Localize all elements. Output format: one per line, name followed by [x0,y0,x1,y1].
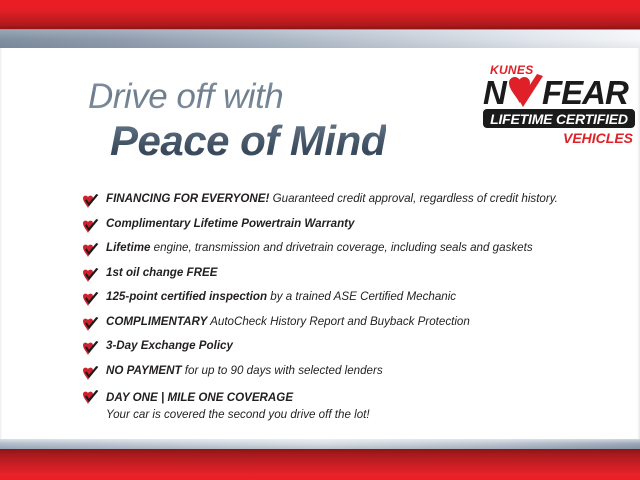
list-item-strong: 1st oil change FREE [106,266,217,279]
logo-vehicles-text: VEHICLES [563,130,633,146]
list-item-rest: AutoCheck History Report and Buyback Pro… [207,315,470,328]
list-item: Complimentary Lifetime Powertrain Warran… [82,217,582,234]
list-item-text: DAY ONE | MILE ONE COVERAGE [106,391,293,404]
list-item-rest: Guaranteed credit approval, regardless o… [269,192,558,205]
list-item-strong: Lifetime [106,241,150,254]
top-gray-band-sheen [0,29,640,48]
top-red-band [0,0,640,29]
red-check-icon [82,341,99,356]
red-check-icon [82,219,99,234]
red-check-icon [82,268,99,283]
list-item-strong: NO PAYMENT [106,364,182,377]
list-item-strong: FINANCING FOR EVERYONE! [106,192,269,205]
list-item-text: 1st oil change FREE [106,266,217,280]
list-item: DAY ONE | MILE ONE COVERAGE Your car is … [82,388,582,422]
list-item-rest: engine, transmission and drivetrain cove… [150,241,532,254]
logo-certified-bar: LIFETIME CERTIFIED [483,109,635,128]
list-item: 1st oil change FREE [82,266,582,283]
list-item-strong: COMPLIMENTARY [106,315,207,328]
list-item-rest: for up to 90 days with selected lenders [182,364,383,377]
list-item-rest: by a trained ASE Certified Mechanic [267,290,456,303]
list-item-subtext: Your car is covered the second you drive… [106,407,370,422]
red-check-icon [82,292,99,307]
list-item: FINANCING FOR EVERYONE! Guaranteed credi… [82,192,582,209]
list-item-text: NO PAYMENT for up to 90 days with select… [106,364,383,378]
dealer-promo-banner: Drive off with Peace of Mind KUNES N FEA… [0,0,640,480]
red-check-icon [82,194,99,209]
red-check-icon [82,390,99,405]
list-item-text: 125-point certified inspection by a trai… [106,290,456,304]
list-item-text: 3-Day Exchange Policy [106,339,233,353]
red-check-icon [82,317,99,332]
list-item-text-group: DAY ONE | MILE ONE COVERAGE Your car is … [106,388,370,422]
list-item: COMPLIMENTARY AutoCheck History Report a… [82,315,582,332]
list-item: NO PAYMENT for up to 90 days with select… [82,364,582,381]
list-item-text: Lifetime engine, transmission and drivet… [106,241,533,255]
headline-line-2: Peace of Mind [110,118,386,164]
logo-certified-text: LIFETIME CERTIFIED [490,111,628,127]
list-item-strong: 125-point certified inspection [106,290,267,303]
list-item-strong: DAY ONE | MILE ONE COVERAGE [106,391,293,404]
list-item-text: FINANCING FOR EVERYONE! Guaranteed credi… [106,192,558,206]
list-item: Lifetime engine, transmission and drivet… [82,241,582,258]
red-check-icon [82,243,99,258]
benefits-list: FINANCING FOR EVERYONE! Guaranteed credi… [82,192,582,430]
list-item-strong: Complimentary Lifetime Powertrain Warran… [106,217,354,230]
no-fear-logo: KUNES N FEAR LIFETIME CERTIFIED VEHICLES [483,63,635,155]
logo-word-fear: FEAR [542,76,628,110]
logo-wordmark: N FEAR [483,76,635,110]
list-item: 3-Day Exchange Policy [82,339,582,356]
headline-line-1: Drive off with [88,78,386,116]
list-item: 125-point certified inspection by a trai… [82,290,582,307]
list-item-text: Complimentary Lifetime Powertrain Warran… [106,217,354,231]
headline-block: Drive off with Peace of Mind [88,78,386,164]
red-check-icon [82,366,99,381]
bottom-red-band [0,449,640,480]
card-left-edge [0,48,2,439]
bottom-gray-band-sheen [0,439,640,449]
list-item-strong: 3-Day Exchange Policy [106,339,233,352]
list-item-text: COMPLIMENTARY AutoCheck History Report a… [106,315,470,329]
